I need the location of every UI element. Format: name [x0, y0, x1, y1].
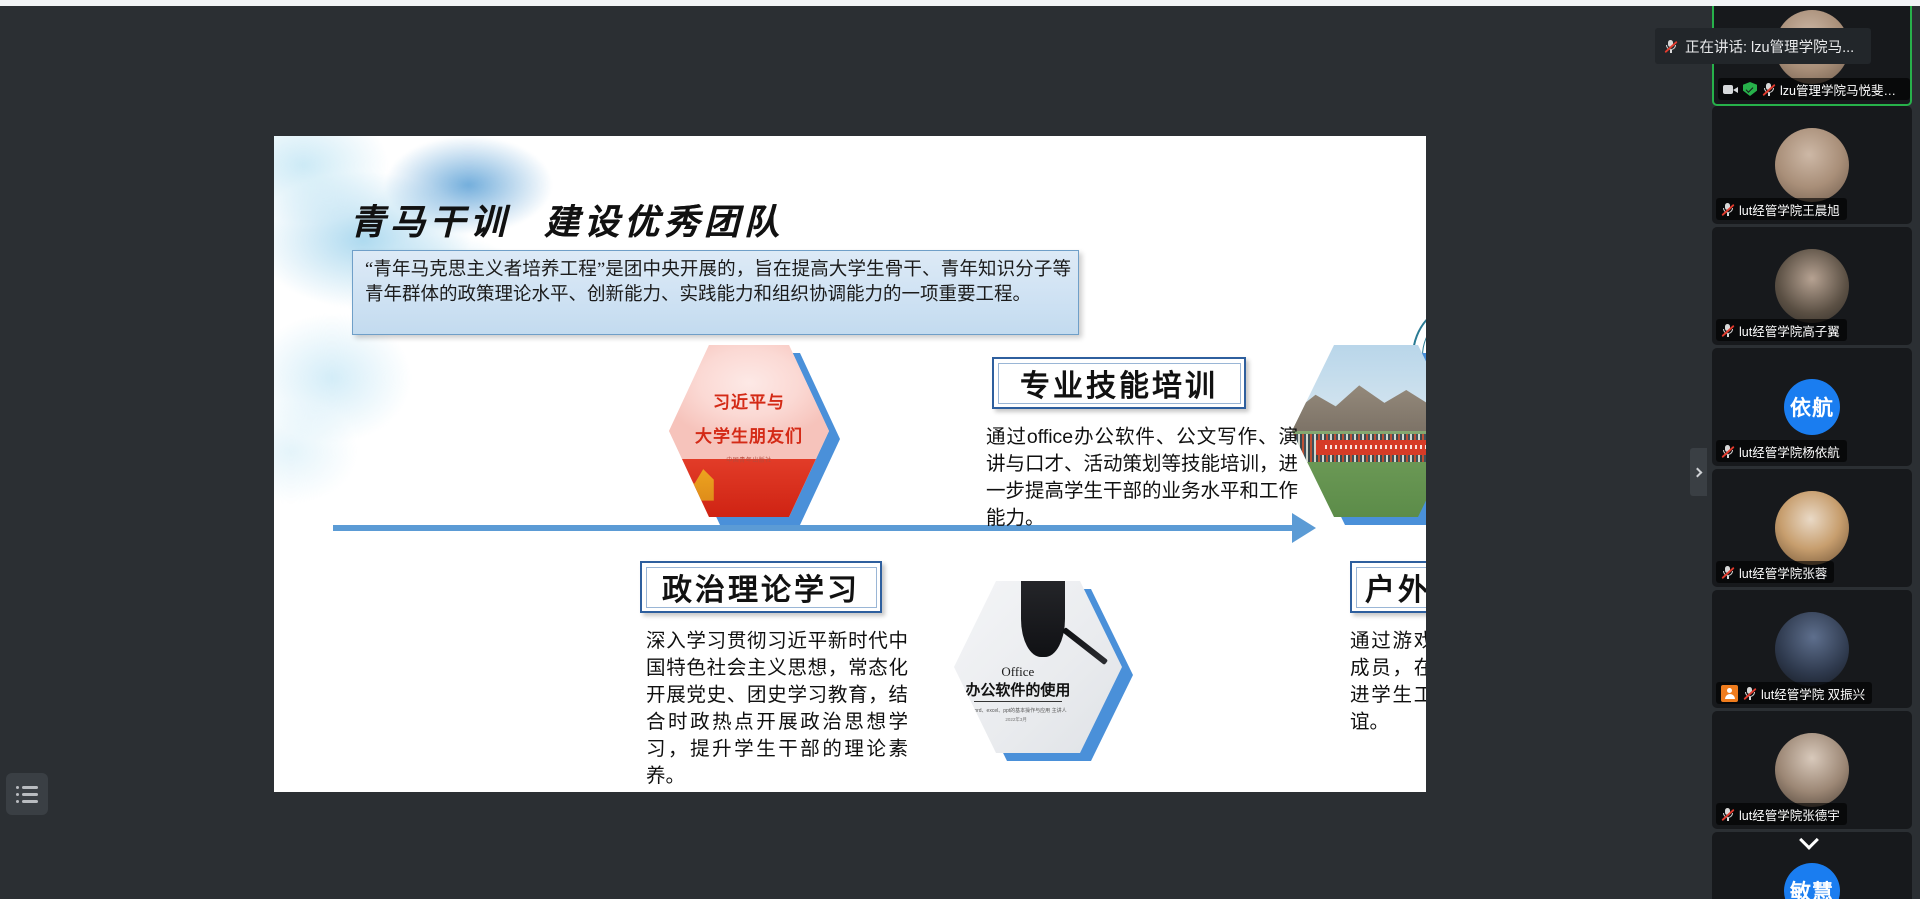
- participant-name-badge: lut经管学院杨依航: [1716, 440, 1847, 462]
- collapse-panel-handle[interactable]: [1690, 448, 1707, 496]
- slide-title-part2: 建设优秀团队: [544, 203, 784, 242]
- participant-name-badge: lzu管理学院马悦斐的...: [1718, 78, 1910, 100]
- video-feed: [1775, 612, 1849, 686]
- meeting-window: 青马干训建设优秀团队 “青年马克思主义者培养工程”是团中央开展的，旨在提高大学生…: [0, 0, 1920, 899]
- section-body-outdoor-development: 通过游戏活动联系各部门成员，在锻炼身体之余增进学生工作人员之间的友谊。: [1350, 628, 1426, 736]
- video-feed: [1775, 249, 1849, 323]
- mountain-icon: [1292, 373, 1426, 431]
- video-feed: [1775, 491, 1849, 565]
- office-subtitle-1: 与word、excel、ppt的基本操作与应用 主讲人: [954, 707, 1078, 714]
- hex-image-outdoor-activity: [1292, 345, 1426, 517]
- hex-image-office-software: Office 办公软件的使用 与word、excel、ppt的基本操作与应用 主…: [954, 581, 1122, 753]
- intro-paragraph: “青年马克思主义者培养工程”是团中央开展的，旨在提高大学生骨干、青年知识分子等青…: [365, 258, 1071, 307]
- book-title-line1: 习近平与: [669, 388, 829, 413]
- book-publisher: 中国青年出版社: [669, 455, 829, 464]
- shield-check-icon: [1743, 82, 1757, 96]
- host-icon: [1721, 685, 1738, 702]
- pen-icon: [1062, 627, 1108, 665]
- list-icon: [16, 786, 38, 803]
- heading-text-theory: 政治理论学习: [662, 565, 860, 609]
- participant-name: lut经管学院高子翼: [1739, 321, 1840, 340]
- video-feed: [1775, 128, 1849, 202]
- participant-name-badge: lut经管学院王晨旭: [1716, 198, 1847, 220]
- page-title: 青马干训建设优秀团队: [350, 194, 784, 245]
- mic-muted-icon: [1721, 202, 1734, 216]
- mic-muted-icon: [1664, 39, 1677, 53]
- participant-tile[interactable]: lut经管学院高子翼: [1712, 227, 1912, 345]
- participant-tile[interactable]: lut经管学院王晨旭: [1712, 106, 1912, 224]
- participant-name-badge: lut经管学院 双振兴: [1716, 682, 1872, 704]
- participant-name: lut经管学院张蓉: [1739, 563, 1827, 582]
- slide-title-part1: 青马干训: [350, 203, 510, 242]
- scroll-down-icon[interactable]: [1797, 836, 1821, 850]
- avatar: 依航: [1784, 379, 1840, 435]
- active-speaker-text: 正在讲话: lzu管理学院马...: [1685, 36, 1854, 57]
- section-heading-political-theory: 政治理论学习: [640, 561, 882, 613]
- participant-name: lut经管学院 双振兴: [1761, 684, 1865, 703]
- section-heading-outdoor-development: 户外素质拓展: [1350, 561, 1426, 613]
- mic-muted-icon: [1721, 565, 1734, 579]
- office-title-cn: 办公软件的使用: [954, 679, 1082, 700]
- mic-muted-icon: [1721, 323, 1734, 337]
- office-subtitle-2: 2022年3月: [954, 717, 1078, 723]
- chevron-right-icon: [1693, 467, 1703, 477]
- camera-icon: [1723, 84, 1738, 95]
- participant-video-rail[interactable]: lzu管理学院马悦斐的...lut经管学院王晨旭lut经管学院高子翼依航lut经…: [1707, 6, 1920, 899]
- participants-list-button[interactable]: [6, 773, 48, 815]
- active-speaker-banner: 正在讲话: lzu管理学院马...: [1655, 28, 1871, 64]
- red-banner-icon: [1316, 440, 1426, 455]
- hex-image-xijinping-book: 习近平与 大学生朋友们 中国青年出版社: [669, 345, 829, 517]
- section-body-political-theory: 深入学习贯彻习近平新时代中国特色社会主义思想，常态化开展党史、团史学习教育，结合…: [646, 628, 908, 790]
- coffee-mug-icon: [1021, 581, 1065, 657]
- video-feed: [1775, 733, 1849, 807]
- office-title-en: Office: [954, 664, 1082, 680]
- participant-name: lut经管学院杨依航: [1739, 442, 1840, 461]
- book-title-line2: 大学生朋友们: [669, 422, 829, 447]
- participant-tile[interactable]: lut经管学院张蓉: [1712, 469, 1912, 587]
- mic-muted-icon: [1762, 82, 1775, 96]
- section-body-skill-training: 通过office办公软件、公文写作、演讲与口才、活动策划等技能培训，进一步提高学…: [986, 424, 1298, 532]
- participant-tile[interactable]: lut经管学院 双振兴: [1712, 590, 1912, 708]
- intro-callout-box: “青年马克思主义者培养工程”是团中央开展的，旨在提高大学生骨干、青年知识分子等青…: [352, 250, 1079, 335]
- participant-name-badge: lut经管学院高子翼: [1716, 319, 1847, 341]
- shared-screen-stage: 青马干训建设优秀团队 “青年马克思主义者培养工程”是团中央开展的，旨在提高大学生…: [0, 6, 1705, 899]
- mic-muted-icon: [1721, 807, 1734, 821]
- participant-name-badge: lut经管学院张德宇: [1716, 803, 1847, 825]
- heading-text-skill: 专业技能培训: [1020, 361, 1218, 405]
- participant-tile[interactable]: lut经管学院张德宇: [1712, 711, 1912, 829]
- participant-tile[interactable]: 依航lut经管学院杨依航: [1712, 348, 1912, 466]
- section-heading-skill-training: 专业技能培训: [992, 357, 1246, 409]
- participant-name: lut经管学院张德宇: [1739, 805, 1840, 824]
- participant-name: lut经管学院王晨旭: [1739, 200, 1840, 219]
- logo-cn-top: 兰州大学: [1412, 311, 1426, 322]
- avatar: 敏慧: [1784, 863, 1840, 899]
- participant-name: lzu管理学院马悦斐的...: [1780, 80, 1903, 99]
- mic-muted-icon: [1721, 444, 1734, 458]
- participant-name-badge: lut经管学院张蓉: [1716, 561, 1834, 583]
- heading-text-outdoor: 户外素质拓展: [1365, 565, 1426, 609]
- mic-muted-icon: [1743, 686, 1756, 700]
- presentation-slide: 青马干训建设优秀团队 “青年马克思主义者培养工程”是团中央开展的，旨在提高大学生…: [274, 136, 1426, 792]
